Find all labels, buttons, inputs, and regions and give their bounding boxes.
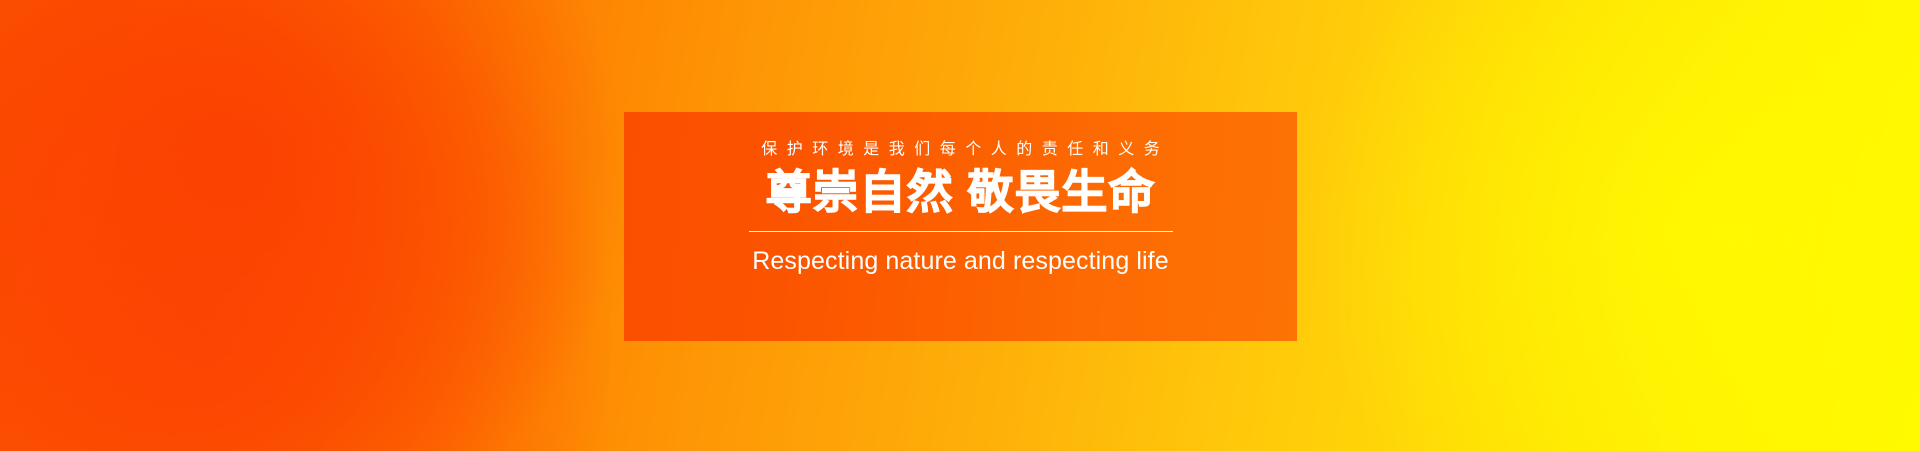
banner-headline: 尊崇自然 敬畏生命 — [766, 169, 1156, 215]
banner-divider — [749, 231, 1173, 232]
poster-canvas: 保护环境是我们每个人的责任和义务 尊崇自然 敬畏生命 Respecting na… — [0, 0, 1920, 451]
slogan-banner: 保护环境是我们每个人的责任和义务 尊崇自然 敬畏生命 Respecting na… — [624, 112, 1297, 341]
background-tint-bottom-left — [0, 0, 610, 451]
background-tint-right — [1300, 0, 1920, 451]
background-tint-top-left — [0, 0, 620, 451]
banner-tagline-english: Respecting nature and respecting life — [752, 249, 1168, 274]
banner-eyebrow-text: 保护环境是我们每个人的责任和义务 — [752, 142, 1170, 158]
